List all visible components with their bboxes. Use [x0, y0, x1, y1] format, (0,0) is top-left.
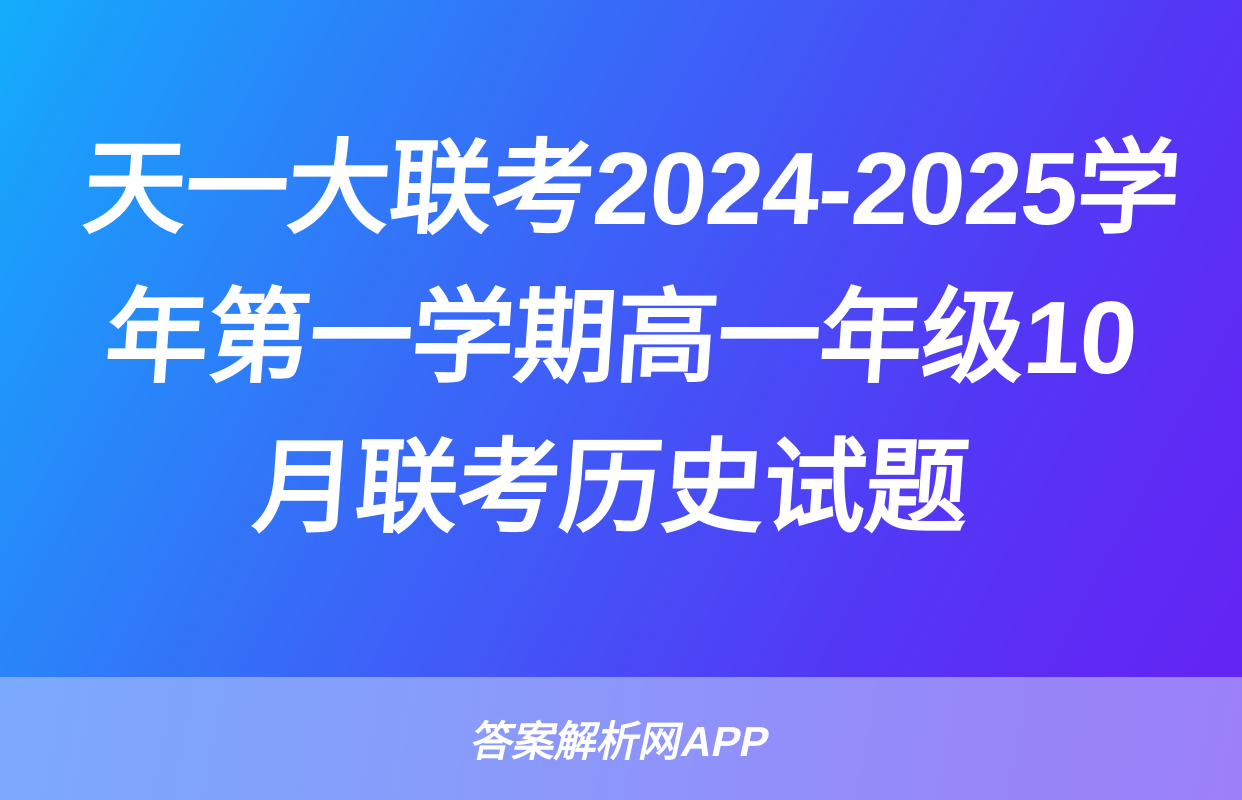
hero-gradient-panel: 天一大联考2024-2025学年第一学期高一年级10月联考历史试题: [0, 0, 1242, 677]
footer-watermark-band: 答案解析网APP: [0, 677, 1242, 800]
app-watermark-label: 答案解析网APP: [466, 708, 775, 769]
poster-container: 天一大联考2024-2025学年第一学期高一年级10月联考历史试题 答案解析网A…: [0, 0, 1242, 800]
page-title: 天一大联考2024-2025学年第一学期高一年级10月联考历史试题: [45, 114, 1196, 562]
